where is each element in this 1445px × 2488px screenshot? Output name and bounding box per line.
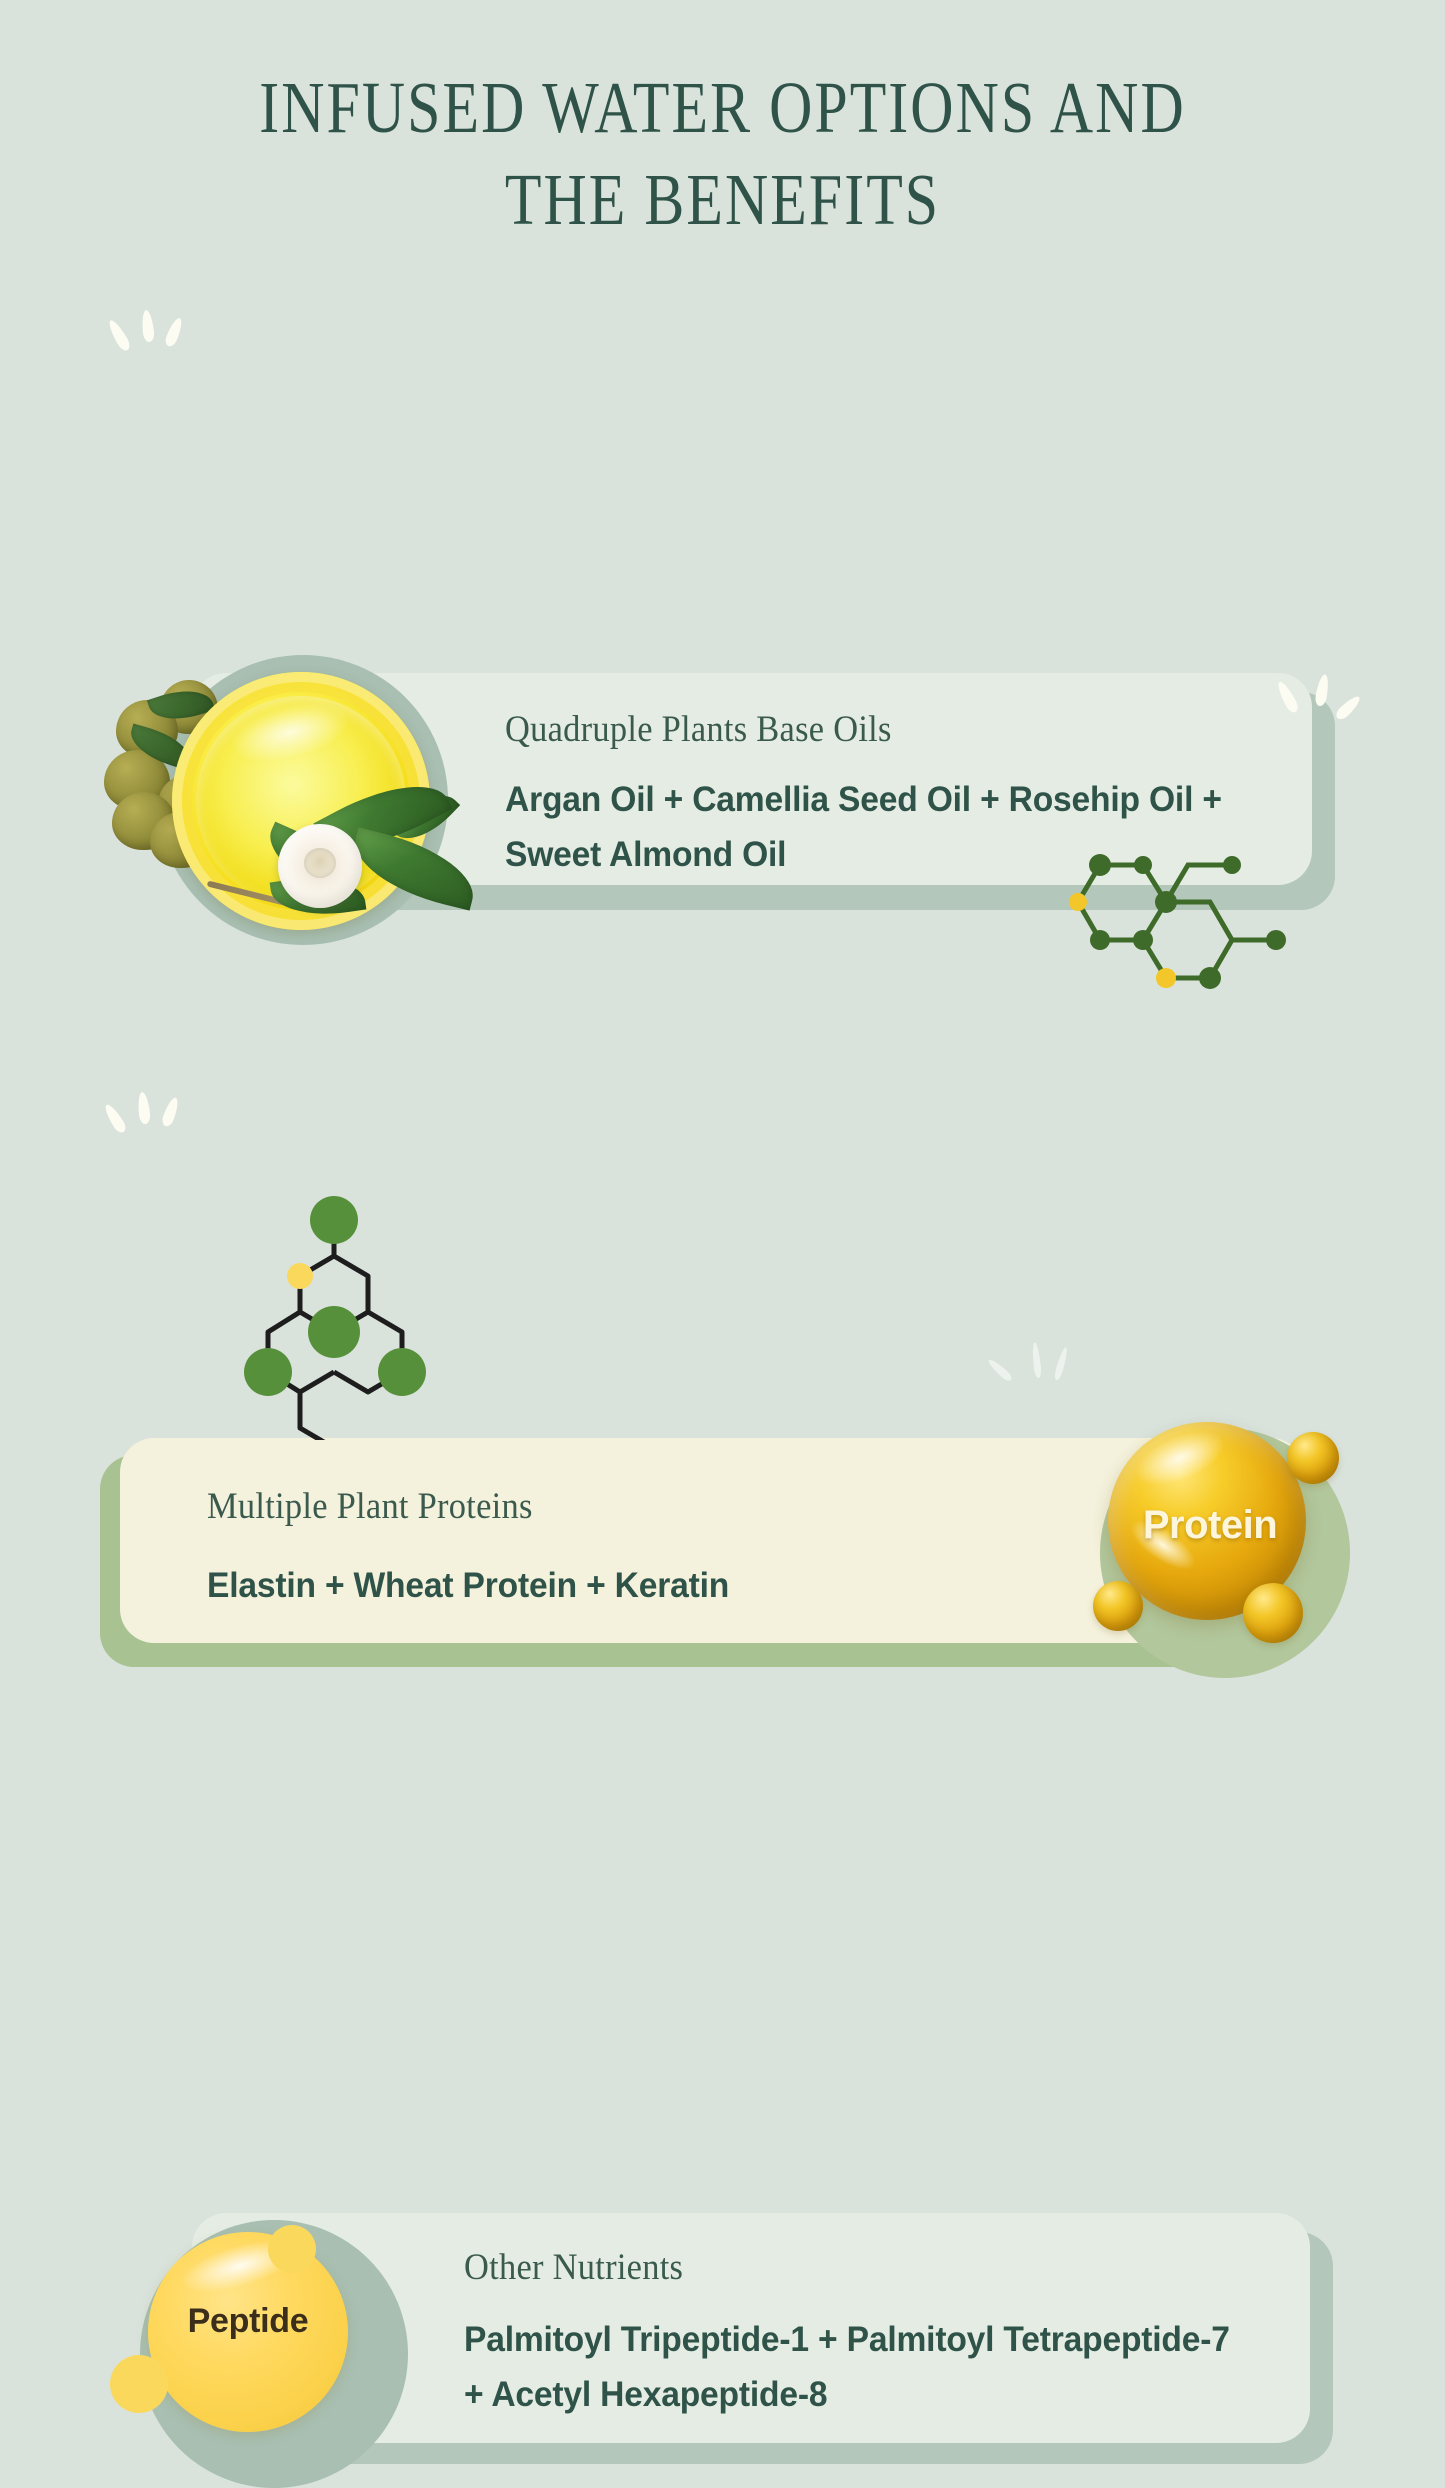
sparkle-ray bbox=[1031, 1342, 1042, 1379]
card-heading-nutrients: Other Nutrients bbox=[464, 2246, 683, 2289]
protein-droplet-label: Protein bbox=[1130, 1503, 1290, 1548]
sparkle-ray bbox=[163, 316, 184, 348]
card-detail-nutrients: Palmitoyl Tripeptide-1 + Palmitoyl Tetra… bbox=[464, 2312, 1232, 2422]
card-detail-proteins: Elastin + Wheat Protein + Keratin bbox=[207, 1558, 1071, 1613]
infographic-page: INFUSED WATER OPTIONS AND THE BENEFITS Q… bbox=[0, 0, 1445, 1445]
sparkle-icon bbox=[1005, 1340, 1085, 1400]
sparkle-ray bbox=[1053, 1346, 1069, 1381]
protein-bubble-icon bbox=[1093, 1581, 1143, 1631]
page-title: INFUSED WATER OPTIONS AND THE BENEFITS bbox=[130, 62, 1315, 246]
card-quadruple-plants-base-oils: Quadruple Plants Base Oils Argan Oil + C… bbox=[0, 300, 1445, 660]
protein-bubble-icon bbox=[1243, 1583, 1303, 1643]
peptide-molecule-icon bbox=[0, 1080, 1445, 1440]
sparkle-ray bbox=[1334, 693, 1363, 722]
sparkle-icon bbox=[118, 310, 188, 360]
sparkle-ray bbox=[160, 1096, 181, 1128]
sparkle-icon bbox=[114, 1092, 186, 1144]
peptide-bubble-icon bbox=[110, 2355, 168, 2413]
card-other-nutrients: Peptide Other Nutrients Palmitoyl Tripep… bbox=[0, 1080, 1445, 1440]
card-multiple-plant-proteins: Protein Multiple Plant Proteins Elastin … bbox=[0, 690, 1445, 1020]
sparkle-ray bbox=[1314, 674, 1330, 707]
sparkle-ray bbox=[141, 310, 155, 343]
peptide-sphere-label: Peptide bbox=[148, 2302, 348, 2341]
peptide-bubble-icon bbox=[268, 2225, 316, 2273]
card-heading-proteins: Multiple Plant Proteins bbox=[207, 1485, 533, 1528]
protein-molecule-icon bbox=[0, 690, 1445, 1020]
sparkle-ray bbox=[137, 1092, 151, 1125]
sparkle-icon bbox=[1286, 672, 1362, 728]
